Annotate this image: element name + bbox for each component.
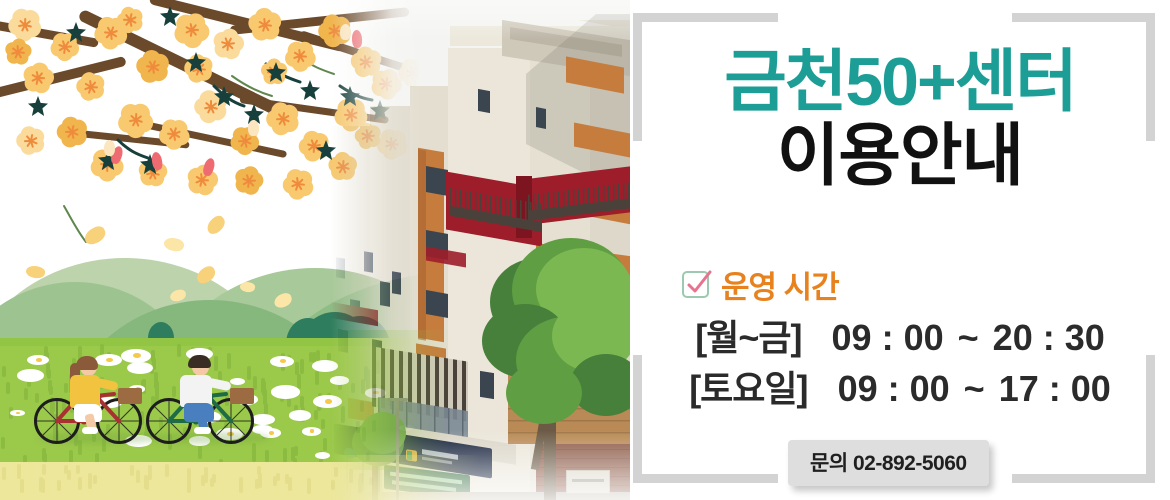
blossom-flower	[250, 10, 280, 40]
hours-heading: 운영 시간	[682, 262, 839, 307]
frame-corner-top-left	[633, 13, 778, 22]
hours-close-time: 17 : 00	[999, 368, 1111, 409]
blossom-flower	[236, 168, 262, 194]
hours-range-separator: ~	[960, 368, 989, 409]
blossom-calyx	[28, 96, 48, 116]
building-photo	[330, 0, 630, 500]
blossom-flower	[176, 14, 208, 46]
blossom-flower	[10, 10, 40, 40]
blossom-calyx	[266, 62, 286, 82]
flower-bud	[104, 140, 115, 156]
hours-close-time: 20 : 30	[993, 317, 1105, 358]
blossom-calyx	[160, 6, 180, 26]
hours-open-time: 09 : 00	[838, 368, 950, 409]
blossom-flower	[18, 128, 44, 154]
blossom-flower	[286, 42, 314, 70]
daisy-flower	[10, 410, 25, 417]
blossom-calyx	[186, 52, 206, 72]
blossom-flower	[78, 74, 104, 100]
spring-illustration-panel	[0, 0, 630, 500]
blossom-flower	[24, 64, 52, 92]
hours-range-separator: ~	[954, 317, 983, 358]
blossom-flower	[58, 118, 86, 146]
frame-corner-top-right	[1012, 13, 1155, 22]
title-line-center-name: 금천50+센터	[630, 48, 1170, 117]
blossom-calyx	[300, 80, 320, 100]
blossom-flower	[160, 120, 188, 148]
hours-list: [월~금] 09 : 00 ~ 20 : 30 [토요일] 09 : 00 ~ …	[630, 312, 1170, 414]
frame-corner-bottom-right	[1012, 474, 1155, 483]
page-title: 금천50+센터 이용안내	[630, 48, 1170, 196]
title-line-subject: 이용안내	[630, 117, 1170, 195]
blossom-flower	[118, 8, 142, 32]
daisy-flower	[289, 410, 311, 420]
frame-corner-bottom-left	[633, 474, 778, 483]
cyclist-right	[146, 358, 276, 446]
blossom-flower	[268, 104, 298, 134]
blossom-calyx	[214, 86, 234, 106]
blossom-flower	[214, 30, 242, 58]
hours-day-label: [토요일]	[689, 368, 807, 409]
flower-bud	[248, 120, 259, 136]
blossom-flower	[6, 40, 30, 64]
info-panel: 금천50+센터 이용안내 운영 시간 [월~금] 09 : 00 ~ 20 : …	[630, 0, 1170, 500]
daisy-flower	[302, 427, 321, 436]
hours-row: [월~금] 09 : 00 ~ 20 : 30	[630, 312, 1170, 363]
blossom-flower	[138, 52, 168, 82]
checkbox-checked-icon	[682, 271, 709, 298]
hours-row: [토요일] 09 : 00 ~ 17 : 00	[630, 363, 1170, 414]
contact-phone-badge[interactable]: 문의 02-892-5060	[788, 440, 989, 486]
hours-day-label: [월~금]	[695, 317, 801, 358]
blossom-calyx	[66, 22, 86, 42]
blossom-flower	[120, 104, 152, 136]
hours-heading-label: 운영 시간	[721, 262, 839, 307]
hours-open-time: 09 : 00	[832, 317, 944, 358]
banner-root: 금천50+센터 이용안내 운영 시간 [월~금] 09 : 00 ~ 20 : …	[0, 0, 1170, 500]
blossom-flower	[284, 170, 312, 198]
cyclist-left	[34, 358, 164, 446]
